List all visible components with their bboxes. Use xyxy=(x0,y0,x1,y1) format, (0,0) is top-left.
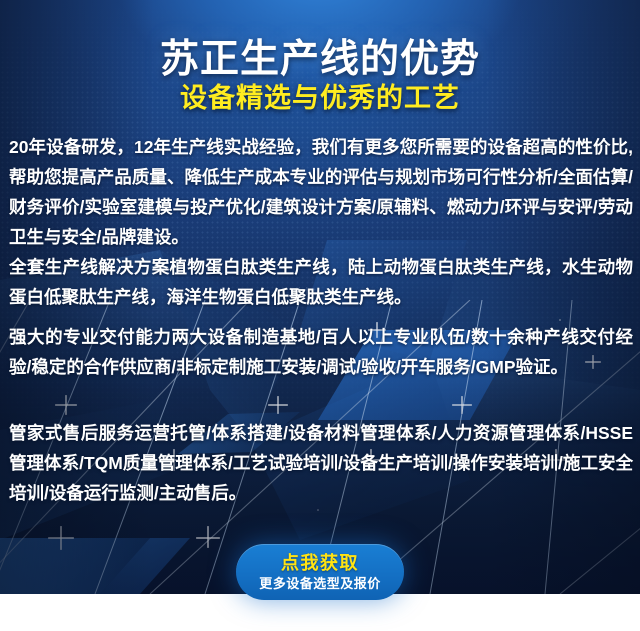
promo-banner: Vhht 苏正生产线的优势 设备精选与优秀的工艺 20年设备研发，12年生产线实… xyxy=(0,0,640,631)
page-title: 苏正生产线的优势 xyxy=(0,38,640,82)
cta-main-label: 点我获取 xyxy=(281,552,359,574)
cta-sub-label: 更多设备选型及报价 xyxy=(259,575,381,593)
paragraph-company-experience: 20年设备研发，12年生产线实战经验，我们有更多您所需要的设备超高的性价比,帮助… xyxy=(9,132,633,252)
page-subtitle: 设备精选与优秀的工艺 xyxy=(0,82,640,114)
paragraph-delivery-capability: 强大的专业交付能力两大设备制造基地/百人以上专业队伍/数十余种产线交付经验/稳定… xyxy=(9,322,633,382)
paragraph-production-lines: 全套生产线解决方案植物蛋白肽类生产线，陆上动物蛋白肽类生产线，水生动物蛋白低聚肽… xyxy=(9,252,633,312)
paragraph-after-sales-service: 管家式售后服务运营托管/体系搭建/设备材料管理体系/人力资源管理体系/HSSE管… xyxy=(9,418,633,508)
get-quote-button[interactable]: 点我获取 更多设备选型及报价 xyxy=(236,544,404,600)
